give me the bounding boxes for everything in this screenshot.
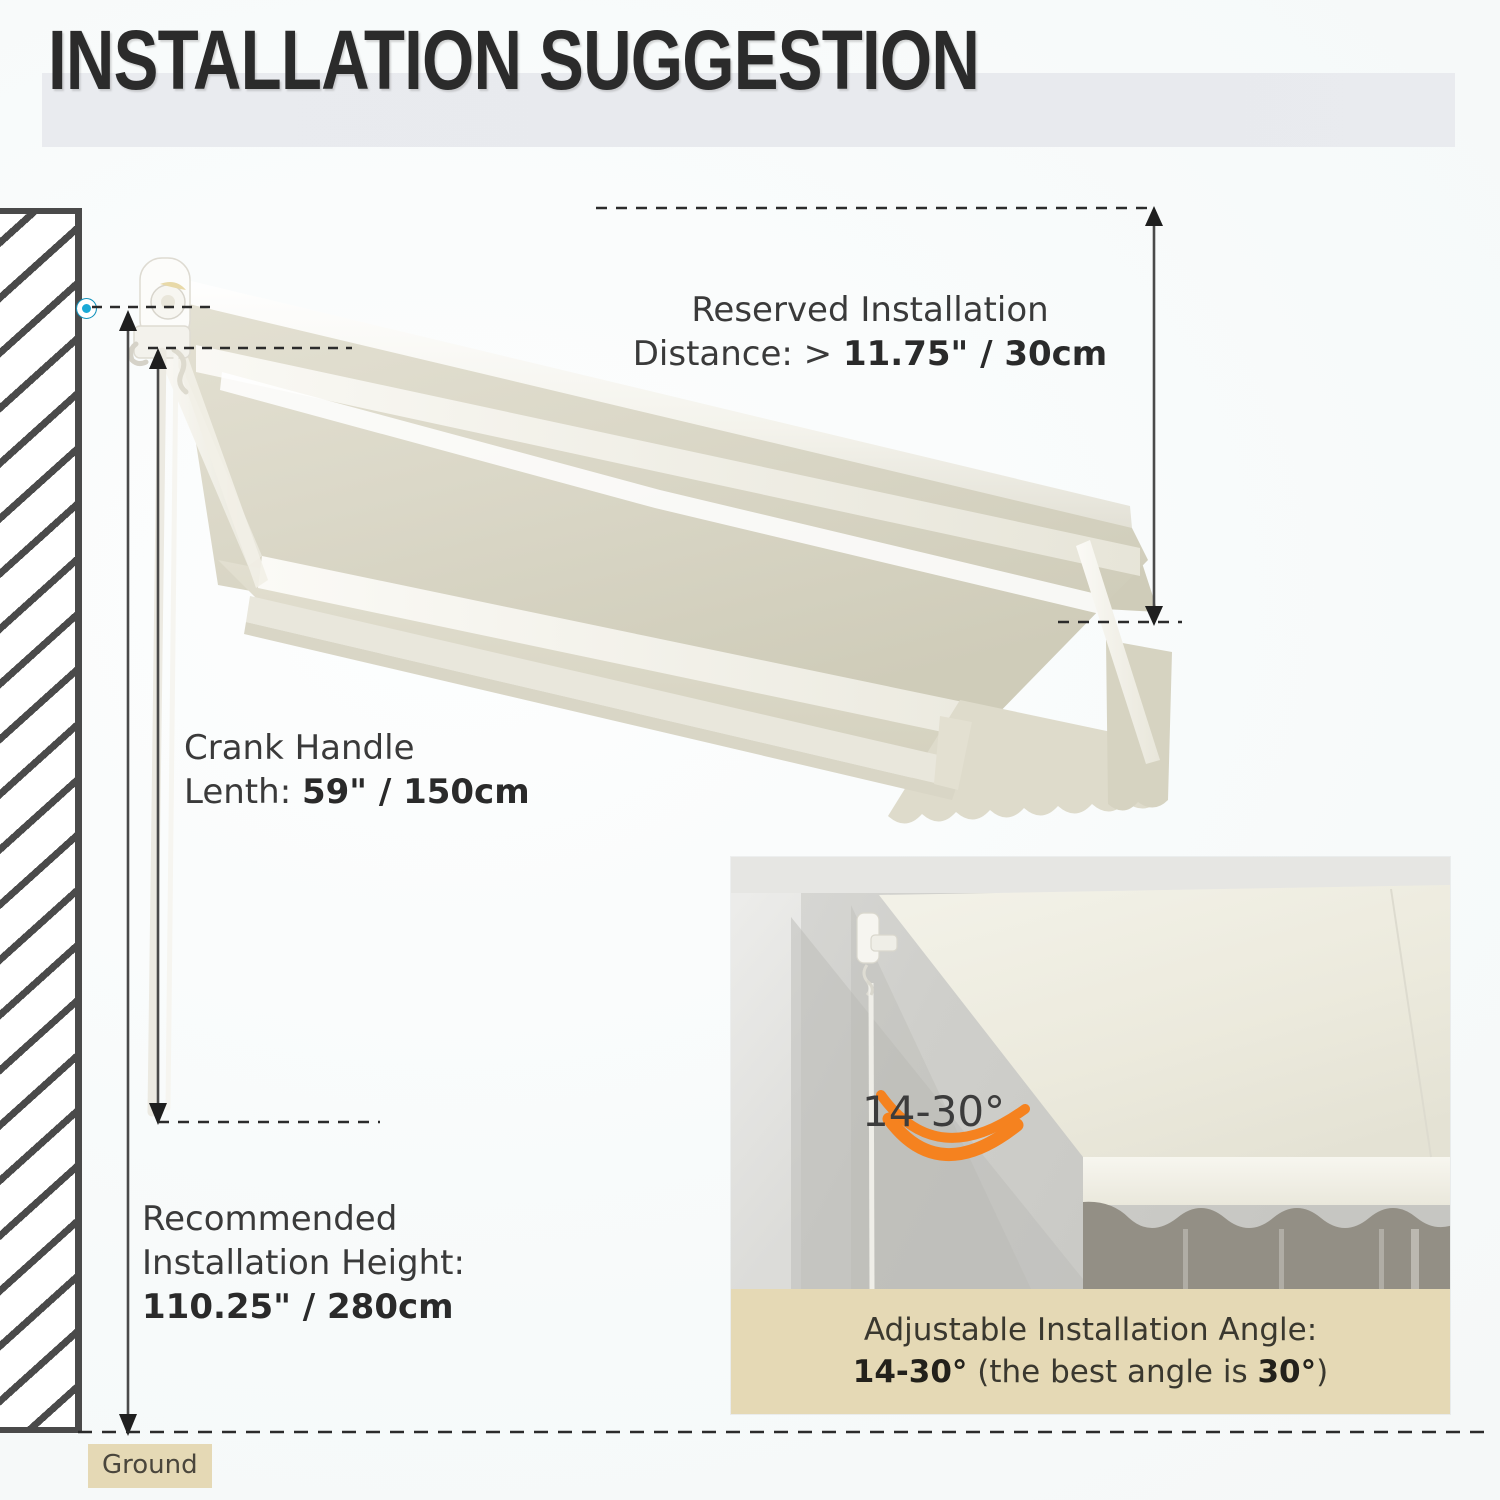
infographic-page: INSTALLATION SUGGESTION xyxy=(0,0,1500,1500)
inset-caption-range: 14-30° xyxy=(853,1354,968,1390)
reserved-distance-callout: Reserved Installation Distance: > 11.75"… xyxy=(600,288,1140,376)
reserved-line2-value: 11.75" / 30cm xyxy=(843,334,1107,374)
inset-caption-line1: Adjustable Installation Angle: xyxy=(864,1310,1317,1352)
crank-line2-value: 59" / 150cm xyxy=(302,772,530,812)
inset-scene xyxy=(731,857,1450,1289)
crank-line2: Lenth: 59" / 150cm xyxy=(184,770,704,814)
inset-caption-mid: (the best angle is xyxy=(977,1354,1247,1390)
inset-awning-front xyxy=(1083,1157,1450,1205)
inset-caption: Adjustable Installation Angle: 14-30° (t… xyxy=(731,1289,1450,1414)
crank-handle-callout: Crank Handle Lenth: 59" / 150cm xyxy=(184,726,704,814)
height-line3-value: 110.25" / 280cm xyxy=(142,1285,662,1329)
angle-inset-photo xyxy=(731,857,1450,1289)
inset-caption-best: 30° xyxy=(1257,1354,1316,1390)
height-line1: Recommended xyxy=(142,1197,662,1241)
inset-caption-line2: 14-30° (the best angle is 30°) xyxy=(853,1352,1328,1394)
inset-plumb-line xyxy=(871,983,872,1289)
angle-inset-panel: Adjustable Installation Angle: 14-30° (t… xyxy=(731,857,1450,1414)
angle-overlay-label: 14-30° xyxy=(862,1087,1005,1136)
installation-height-callout: Recommended Installation Height: 110.25"… xyxy=(142,1197,662,1330)
reserved-arrow-up xyxy=(1145,206,1163,226)
height-arrow-up xyxy=(119,310,137,331)
reserved-line1: Reserved Installation xyxy=(600,288,1140,332)
inset-caption-end: ) xyxy=(1316,1354,1328,1390)
crank-arrow-up xyxy=(149,348,167,369)
crank-line2-prefix: Lenth: xyxy=(184,772,291,812)
reserved-line2: Distance: > 11.75" / 30cm xyxy=(600,332,1140,376)
crank-line1: Crank Handle xyxy=(184,726,704,770)
height-line2: Installation Height: xyxy=(142,1241,662,1285)
reserved-line2-prefix: Distance: > xyxy=(633,334,832,374)
ground-label: Ground xyxy=(88,1444,212,1488)
